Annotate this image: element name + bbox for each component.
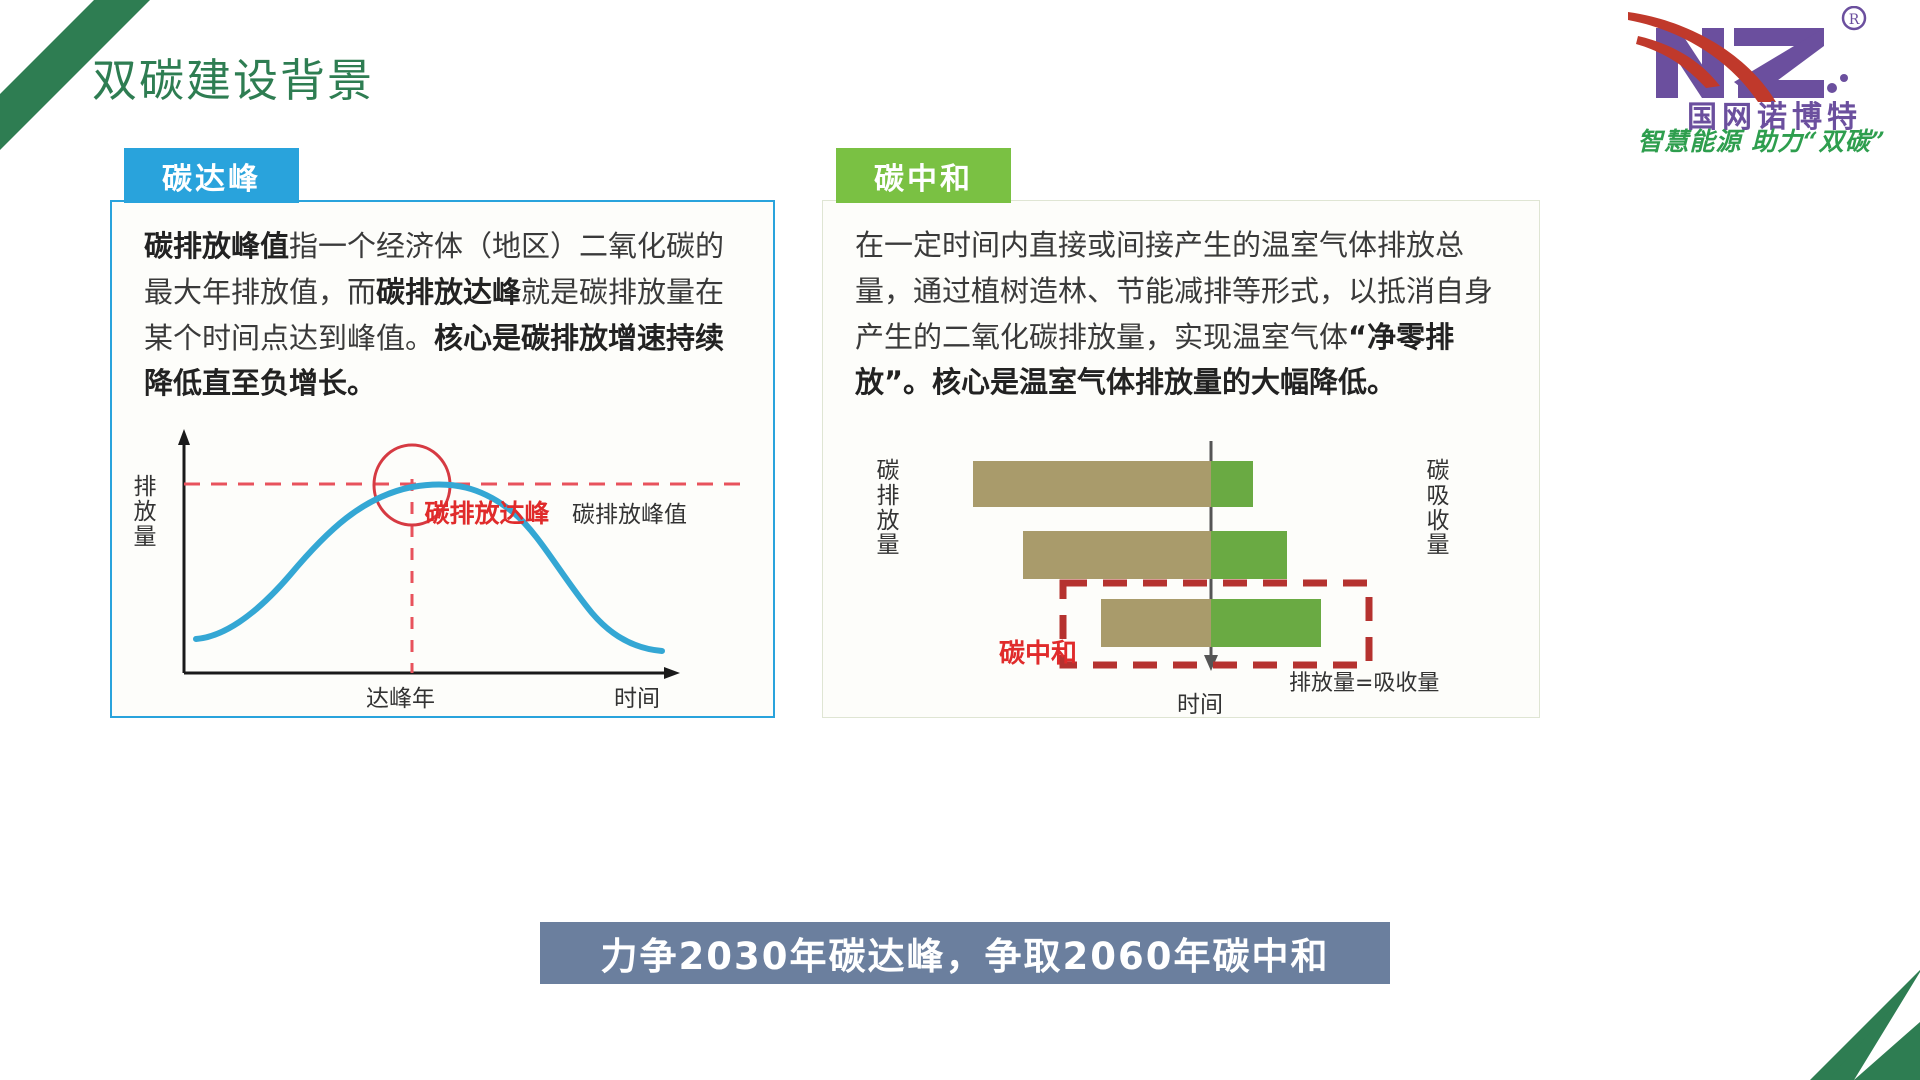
top-left-white-wedge bbox=[0, 0, 94, 150]
chart-carbon-peak-curve: 排放量 碳排放达峰 碳排放峰值 达峰年 时间 bbox=[122, 417, 772, 707]
chart-carbon-neutral-bars: 碳排放量 碳吸收量 碳中和 排放量=吸收量 时间 bbox=[833, 431, 1533, 721]
logo-slogan: 智慧能源 助力“双碳” bbox=[1638, 122, 1886, 158]
card-paragraph-carbon-peak: 碳排放峰值指一个经济体（地区）二氧化碳的最大年排放值，而碳排放达峰就是碳排放量在… bbox=[144, 224, 747, 407]
chart-peak-callout: 碳排放达峰 bbox=[422, 499, 552, 529]
svg-text:R: R bbox=[1849, 12, 1860, 28]
footer-goal-banner: 力争2030年碳达峰，争取2060年碳中和 bbox=[540, 922, 1390, 984]
chart-footnote-balance: 排放量=吸收量 bbox=[1289, 665, 1439, 697]
card-paragraph-carbon-neutral: 在一定时间内直接或间接产生的温室气体排放总量，通过植树造林、节能减排等形式，以抵… bbox=[855, 223, 1513, 406]
para-bold-1: 碳排放峰值 bbox=[144, 229, 289, 263]
chart-neutral-box-label: 碳中和 bbox=[973, 639, 1103, 670]
logo-mark-icon: R bbox=[1626, 6, 1876, 106]
footer-goal-text: 力争2030年碳达峰，争取2060年碳中和 bbox=[601, 926, 1330, 980]
card-body-carbon-neutral: 在一定时间内直接或间接产生的温室气体排放总量，通过植树造林、节能减排等形式，以抵… bbox=[822, 200, 1540, 718]
card-tab-carbon-neutral: 碳中和 bbox=[836, 148, 1011, 203]
chart-x-axis-label: 时间 bbox=[614, 679, 660, 713]
card-body-carbon-peak: 碳排放峰值指一个经济体（地区）二氧化碳的最大年排放值，而碳排放达峰就是碳排放量在… bbox=[110, 200, 775, 718]
bottom-right-green-corner bbox=[1770, 960, 1920, 1080]
card-tab-carbon-peak: 碳达峰 bbox=[124, 148, 299, 203]
page-title: 双碳建设背景 bbox=[92, 44, 374, 109]
chart-peak-level-label: 碳排放峰值 bbox=[572, 495, 687, 529]
card-carbon-peak: 碳达峰 碳排放峰值指一个经济体（地区）二氧化碳的最大年排放值，而碳排放达峰就是碳… bbox=[110, 148, 775, 718]
company-logo: R 国网诺博特 智慧能源 助力“双碳” bbox=[1594, 4, 1894, 154]
chart-x-tick-peak-year: 达峰年 bbox=[366, 679, 435, 713]
chart-curve-svg bbox=[122, 417, 772, 707]
card-carbon-neutral: 碳中和 在一定时间内直接或间接产生的温室气体排放总量，通过植树造林、节能减排等形… bbox=[822, 148, 1540, 718]
para-bold-2: 碳排放达峰 bbox=[376, 275, 521, 309]
chart-time-axis-label: 时间 bbox=[1177, 685, 1223, 719]
